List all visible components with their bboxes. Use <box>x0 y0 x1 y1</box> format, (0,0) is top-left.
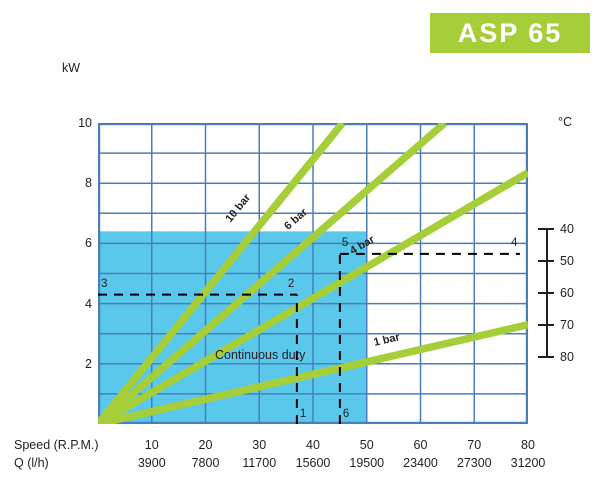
temperature-tick-mark-80 <box>538 356 554 358</box>
x-axis-speed-tick-40: 40 <box>306 438 320 452</box>
y-axis-unit-label: kW <box>62 61 80 75</box>
annotation-point-3: 3 <box>101 278 107 290</box>
annotation-point-2: 2 <box>288 278 294 290</box>
y-axis-tick-6: 6 <box>66 236 92 250</box>
temperature-tick-mark-50 <box>538 260 554 262</box>
x-axis-flow-tick-15600: 15600 <box>296 456 331 470</box>
y-axis-tick-4: 4 <box>66 297 92 311</box>
x-axis-row-title-flow: Q (l/h) <box>14 456 49 470</box>
product-title-badge: ASP 65 <box>430 13 590 53</box>
x-axis-speed-tick-50: 50 <box>360 438 374 452</box>
y-axis-tick-8: 8 <box>66 176 92 190</box>
x-axis-row-title-speed: Speed (R.P.M.) <box>14 438 99 452</box>
x-axis-speed-tick-10: 10 <box>145 438 159 452</box>
product-title-text: ASP 65 <box>458 20 563 47</box>
y-axis-tick-10: 10 <box>66 116 92 130</box>
annotation-point-5: 5 <box>342 237 348 249</box>
chart-plot-area: Continuous duty 10 bar 6 bar 4 bar 1 bar… <box>98 123 528 424</box>
temperature-tick-label-40: 40 <box>560 222 574 236</box>
temperature-tick-label-50: 50 <box>560 254 574 268</box>
temperature-tick-mark-40 <box>538 228 554 230</box>
x-axis-flow-tick-23400: 23400 <box>403 456 438 470</box>
annotation-point-1: 1 <box>300 408 306 420</box>
x-axis-flow-tick-7800: 7800 <box>192 456 220 470</box>
annotation-point-6: 6 <box>343 408 349 420</box>
x-axis-flow-tick-19500: 19500 <box>349 456 384 470</box>
annotation-point-4: 4 <box>511 237 517 249</box>
continuous-duty-label: Continuous duty <box>215 348 305 362</box>
temperature-scale: 4050607080 <box>532 222 596 362</box>
x-axis-speed-tick-20: 20 <box>199 438 213 452</box>
x-axis-speed-tick-30: 30 <box>252 438 266 452</box>
temperature-tick-label-70: 70 <box>560 318 574 332</box>
right-axis-unit-label: °C <box>558 115 572 129</box>
x-axis-speed-tick-70: 70 <box>467 438 481 452</box>
x-axis-flow-tick-27300: 27300 <box>457 456 492 470</box>
x-axis-flow-tick-3900: 3900 <box>138 456 166 470</box>
temperature-tick-label-60: 60 <box>560 286 574 300</box>
chart-page: ASP 65 kW °C 246810 Continuous duty 10 b… <box>0 0 602 500</box>
y-axis-tick-2: 2 <box>66 357 92 371</box>
temperature-tick-label-80: 80 <box>560 350 574 364</box>
x-axis-flow-tick-31200: 31200 <box>511 456 546 470</box>
temperature-tick-mark-70 <box>538 324 554 326</box>
x-axis-labels: Speed (R.P.M.) Q (l/h) 10390020780030117… <box>0 436 602 478</box>
y-axis-tick-labels: 246810 <box>56 123 92 424</box>
x-axis-speed-tick-80: 80 <box>521 438 535 452</box>
x-axis-flow-tick-11700: 11700 <box>242 456 276 470</box>
temperature-tick-mark-60 <box>538 292 554 294</box>
x-axis-speed-tick-60: 60 <box>414 438 428 452</box>
